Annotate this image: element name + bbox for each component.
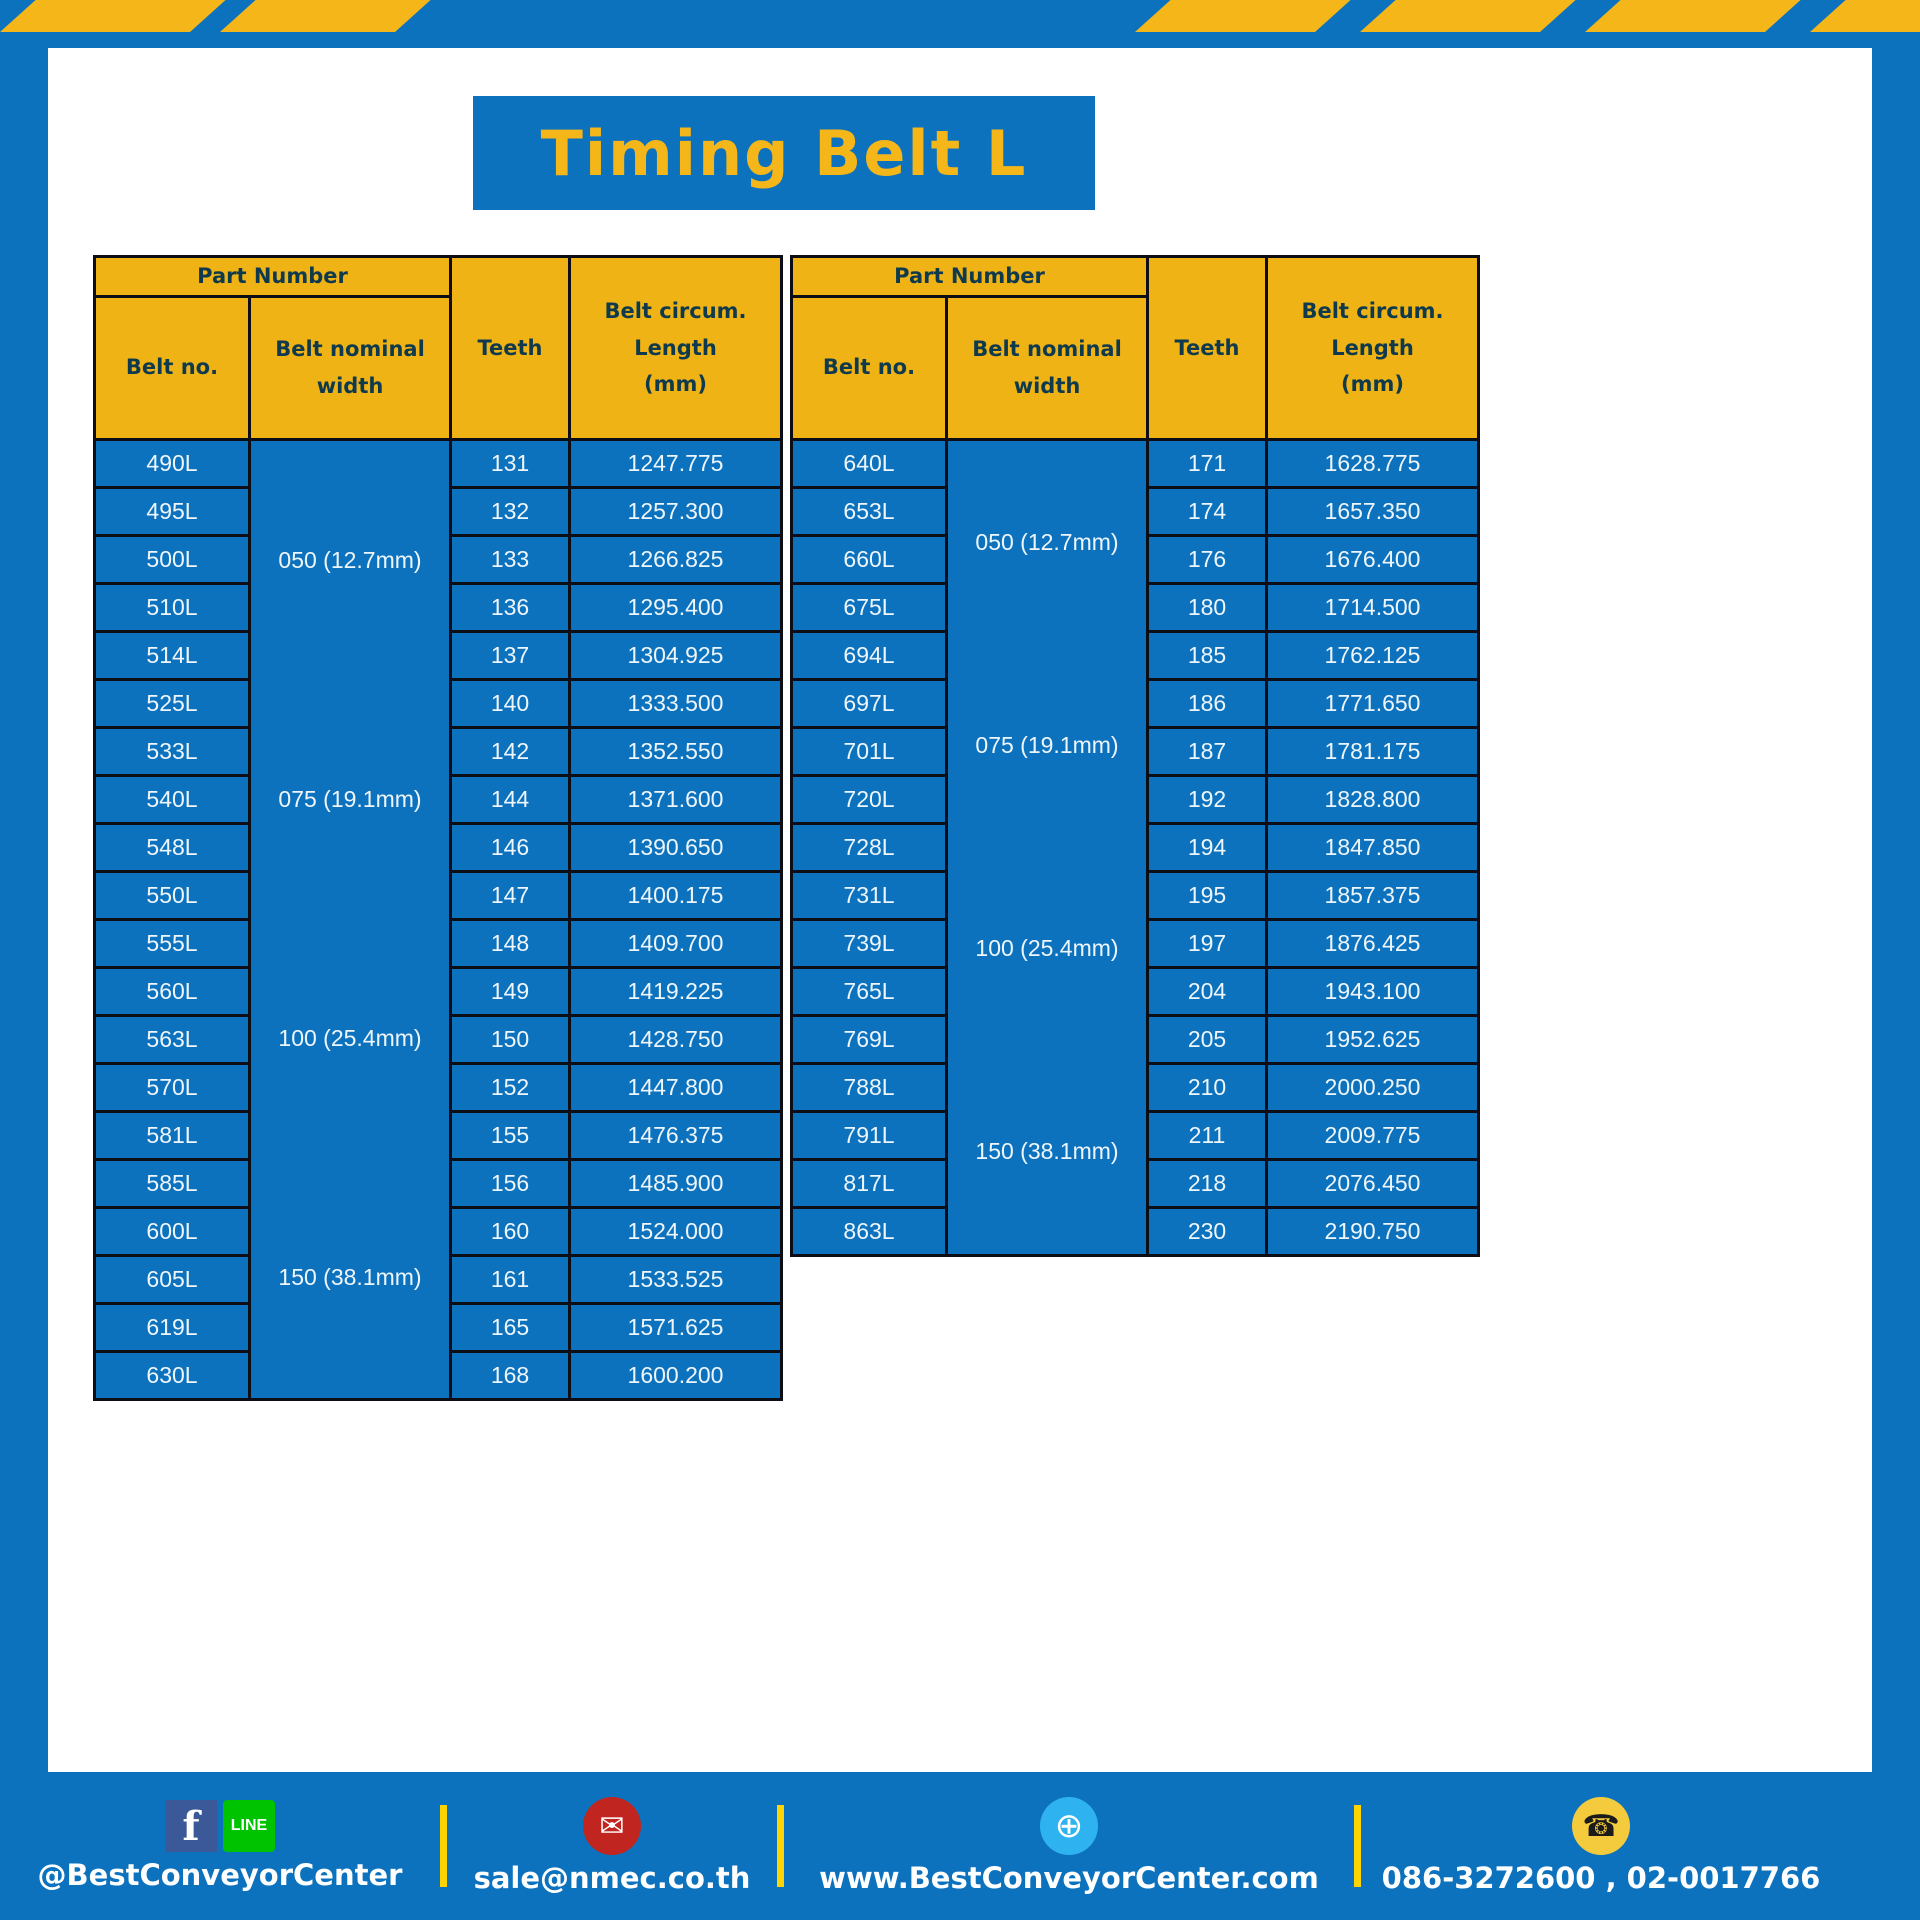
cell-belt-nominal-width: 050 (12.7mm)075 (19.1mm)100 (25.4mm)150 … [250, 439, 451, 1399]
cell-belt-no: 540L [95, 775, 250, 823]
cell-length-mm: 2076.450 [1267, 1159, 1479, 1207]
cell-teeth: 195 [1148, 871, 1267, 919]
cell-belt-no: 694L [792, 631, 947, 679]
cell-belt-no: 791L [792, 1111, 947, 1159]
cell-teeth: 204 [1148, 967, 1267, 1015]
header-length: Length [571, 330, 780, 367]
footer-divider-3 [1354, 1805, 1361, 1887]
cell-belt-no: 630L [95, 1351, 250, 1399]
cell-length-mm: 1657.350 [1267, 487, 1479, 535]
cell-teeth: 160 [451, 1207, 570, 1255]
cell-belt-no: 863L [792, 1207, 947, 1255]
cell-length-mm: 1476.375 [570, 1111, 782, 1159]
cell-length-mm: 1714.500 [1267, 583, 1479, 631]
page-title-banner: Timing Belt L [473, 96, 1095, 210]
cell-belt-no: 697L [792, 679, 947, 727]
cell-length-mm: 1371.600 [570, 775, 782, 823]
top-decoration-stripes [0, 0, 1920, 48]
cell-length-mm: 1628.775 [1267, 439, 1479, 487]
width-option-2: 100 (25.4mm) [251, 1026, 449, 1051]
cell-teeth: 148 [451, 919, 570, 967]
footer-facebook-block[interactable]: f LINE @BestConveyorCenter [0, 1800, 440, 1892]
cell-length-mm: 1600.200 [570, 1351, 782, 1399]
cell-length-mm: 1828.800 [1267, 775, 1479, 823]
header-belt-nominal-width: Belt nominal width [947, 296, 1148, 439]
cell-teeth: 230 [1148, 1207, 1267, 1255]
header-width: width [251, 368, 449, 405]
table-head: Part Number Teeth Belt circum. Length (m… [792, 257, 1479, 440]
cell-belt-no: 619L [95, 1303, 250, 1351]
cell-teeth: 140 [451, 679, 570, 727]
cell-length-mm: 1352.550 [570, 727, 782, 775]
cell-belt-no: 490L [95, 439, 250, 487]
cell-teeth: 186 [1148, 679, 1267, 727]
cell-length-mm: 1409.700 [570, 919, 782, 967]
header-width: width [948, 368, 1146, 405]
cell-belt-no: 585L [95, 1159, 250, 1207]
cell-belt-nominal-width: 050 (12.7mm)075 (19.1mm)100 (25.4mm)150 … [947, 439, 1148, 1255]
footer-phone-block[interactable]: ☎ 086-3272600 , 02-0017766 [1361, 1797, 1841, 1895]
cell-belt-no: 560L [95, 967, 250, 1015]
cell-teeth: 194 [1148, 823, 1267, 871]
contact-footer: f LINE @BestConveyorCenter ✉ sale@nmec.c… [0, 1772, 1920, 1920]
cell-belt-no: 563L [95, 1015, 250, 1063]
footer-divider-2 [777, 1805, 784, 1887]
cell-teeth: 152 [451, 1063, 570, 1111]
cell-belt-no: 640L [792, 439, 947, 487]
cell-teeth: 192 [1148, 775, 1267, 823]
header-belt-nominal: Belt nominal [948, 331, 1146, 368]
cell-length-mm: 2000.250 [1267, 1063, 1479, 1111]
header-row-top: Part Number Teeth Belt circum. Length (m… [792, 257, 1479, 297]
width-option-1: 075 (19.1mm) [948, 733, 1146, 758]
table-head: Part Number Teeth Belt circum. Length (m… [95, 257, 782, 440]
cell-belt-no: 514L [95, 631, 250, 679]
header-belt-circum: Belt circum. [571, 293, 780, 330]
footer-divider-1 [440, 1805, 447, 1887]
cell-teeth: 187 [1148, 727, 1267, 775]
cell-teeth: 146 [451, 823, 570, 871]
cell-length-mm: 1524.000 [570, 1207, 782, 1255]
belt-table: Part Number Teeth Belt circum. Length (m… [93, 255, 783, 1401]
footer-social-icons: f LINE [165, 1800, 275, 1852]
cell-belt-no: 765L [792, 967, 947, 1015]
header-part-number: Part Number [95, 257, 451, 297]
table-row: 640L050 (12.7mm)075 (19.1mm)100 (25.4mm)… [792, 439, 1479, 487]
cell-teeth: 137 [451, 631, 570, 679]
cell-teeth: 132 [451, 487, 570, 535]
cell-belt-no: 548L [95, 823, 250, 871]
stripe-6 [1810, 0, 1920, 32]
header-belt-nominal: Belt nominal [251, 331, 449, 368]
cell-teeth: 211 [1148, 1111, 1267, 1159]
header-belt-no: Belt no. [95, 296, 250, 439]
facebook-icon[interactable]: f [165, 1800, 217, 1852]
cell-teeth: 185 [1148, 631, 1267, 679]
cell-belt-no: 817L [792, 1159, 947, 1207]
cell-teeth: 180 [1148, 583, 1267, 631]
cell-length-mm: 1400.175 [570, 871, 782, 919]
cell-teeth: 205 [1148, 1015, 1267, 1063]
cell-teeth: 149 [451, 967, 570, 1015]
cell-length-mm: 1876.425 [1267, 919, 1479, 967]
cell-length-mm: 1857.375 [1267, 871, 1479, 919]
cell-teeth: 218 [1148, 1159, 1267, 1207]
cell-belt-no: 788L [792, 1063, 947, 1111]
cell-belt-no: 555L [95, 919, 250, 967]
phone-icon[interactable]: ☎ [1572, 1797, 1630, 1855]
belt-table: Part Number Teeth Belt circum. Length (m… [790, 255, 1480, 1257]
footer-phone-numbers: 086-3272600 , 02-0017766 [1382, 1861, 1821, 1895]
cell-belt-no: 550L [95, 871, 250, 919]
line-icon[interactable]: LINE [223, 1800, 275, 1852]
table-body: 640L050 (12.7mm)075 (19.1mm)100 (25.4mm)… [792, 439, 1479, 1255]
header-belt-circum-length: Belt circum. Length (mm) [1267, 257, 1479, 440]
cell-belt-no: 660L [792, 535, 947, 583]
width-option-1: 075 (19.1mm) [251, 787, 449, 812]
header-belt-circum-length: Belt circum. Length (mm) [570, 257, 782, 440]
header-part-number: Part Number [792, 257, 1148, 297]
stripe-5 [1585, 0, 1805, 32]
cell-teeth: 171 [1148, 439, 1267, 487]
globe-icon[interactable]: ⊕ [1040, 1797, 1098, 1855]
stripe-2 [220, 0, 435, 32]
cell-teeth: 168 [451, 1351, 570, 1399]
footer-email-address: sale@nmec.co.th [474, 1861, 751, 1895]
cell-length-mm: 1257.300 [570, 487, 782, 535]
cell-teeth: 210 [1148, 1063, 1267, 1111]
cell-length-mm: 1485.900 [570, 1159, 782, 1207]
footer-facebook-handle: @BestConveyorCenter [38, 1858, 403, 1892]
table-row: 490L050 (12.7mm)075 (19.1mm)100 (25.4mm)… [95, 439, 782, 487]
cell-length-mm: 1771.650 [1267, 679, 1479, 727]
page-title: Timing Belt L [541, 117, 1028, 190]
cell-teeth: 174 [1148, 487, 1267, 535]
width-option-0: 050 (12.7mm) [251, 548, 449, 573]
cell-length-mm: 1952.625 [1267, 1015, 1479, 1063]
cell-length-mm: 1533.525 [570, 1255, 782, 1303]
cell-length-mm: 1447.800 [570, 1063, 782, 1111]
width-option-3: 150 (38.1mm) [251, 1265, 449, 1290]
cell-belt-no: 720L [792, 775, 947, 823]
width-option-3: 150 (38.1mm) [948, 1139, 1146, 1164]
cell-length-mm: 1247.775 [570, 439, 782, 487]
header-length: Length [1268, 330, 1477, 367]
cell-teeth: 133 [451, 535, 570, 583]
cell-teeth: 197 [1148, 919, 1267, 967]
cell-belt-no: 675L [792, 583, 947, 631]
cell-belt-no: 525L [95, 679, 250, 727]
timing-belt-table-right: Part Number Teeth Belt circum. Length (m… [790, 255, 1480, 1257]
cell-teeth: 136 [451, 583, 570, 631]
cell-belt-no: 728L [792, 823, 947, 871]
stripe-4 [1360, 0, 1580, 32]
cell-length-mm: 1676.400 [1267, 535, 1479, 583]
cell-belt-no: 701L [792, 727, 947, 775]
cell-belt-no: 500L [95, 535, 250, 583]
cell-belt-no: 739L [792, 919, 947, 967]
header-mm-unit: (mm) [571, 366, 780, 403]
cell-belt-no: 581L [95, 1111, 250, 1159]
footer-email-block[interactable]: ✉ sale@nmec.co.th [447, 1797, 777, 1895]
cell-length-mm: 2190.750 [1267, 1207, 1479, 1255]
table-body: 490L050 (12.7mm)075 (19.1mm)100 (25.4mm)… [95, 439, 782, 1399]
header-teeth: Teeth [1148, 257, 1267, 440]
cell-belt-no: 653L [792, 487, 947, 535]
cell-belt-no: 510L [95, 583, 250, 631]
cell-belt-no: 769L [792, 1015, 947, 1063]
stripe-1 [0, 0, 230, 32]
cell-belt-no: 570L [95, 1063, 250, 1111]
header-teeth: Teeth [451, 257, 570, 440]
cell-length-mm: 1419.225 [570, 967, 782, 1015]
cell-teeth: 131 [451, 439, 570, 487]
header-belt-nominal-width: Belt nominal width [250, 296, 451, 439]
cell-teeth: 161 [451, 1255, 570, 1303]
cell-belt-no: 495L [95, 487, 250, 535]
cell-teeth: 142 [451, 727, 570, 775]
cell-length-mm: 1266.825 [570, 535, 782, 583]
cell-teeth: 165 [451, 1303, 570, 1351]
cell-length-mm: 1943.100 [1267, 967, 1479, 1015]
cell-length-mm: 1847.850 [1267, 823, 1479, 871]
cell-teeth: 147 [451, 871, 570, 919]
cell-teeth: 155 [451, 1111, 570, 1159]
footer-website-url: www.BestConveyorCenter.com [819, 1861, 1319, 1895]
cell-belt-no: 600L [95, 1207, 250, 1255]
cell-belt-no: 605L [95, 1255, 250, 1303]
cell-length-mm: 1333.500 [570, 679, 782, 727]
header-mm-unit: (mm) [1268, 366, 1477, 403]
footer-website-block[interactable]: ⊕ www.BestConveyorCenter.com [784, 1797, 1354, 1895]
cell-length-mm: 1304.925 [570, 631, 782, 679]
cell-teeth: 176 [1148, 535, 1267, 583]
cell-length-mm: 1390.650 [570, 823, 782, 871]
width-option-2: 100 (25.4mm) [948, 936, 1146, 961]
cell-length-mm: 1571.625 [570, 1303, 782, 1351]
cell-teeth: 150 [451, 1015, 570, 1063]
cell-teeth: 144 [451, 775, 570, 823]
cell-length-mm: 2009.775 [1267, 1111, 1479, 1159]
cell-length-mm: 1295.400 [570, 583, 782, 631]
stripe-3 [1135, 0, 1355, 32]
header-belt-no: Belt no. [792, 296, 947, 439]
cell-belt-no: 533L [95, 727, 250, 775]
width-option-0: 050 (12.7mm) [948, 530, 1146, 555]
header-row-top: Part Number Teeth Belt circum. Length (m… [95, 257, 782, 297]
cell-teeth: 156 [451, 1159, 570, 1207]
timing-belt-table-left: Part Number Teeth Belt circum. Length (m… [93, 255, 783, 1401]
email-icon[interactable]: ✉ [583, 1797, 641, 1855]
header-belt-circum: Belt circum. [1268, 293, 1477, 330]
cell-length-mm: 1428.750 [570, 1015, 782, 1063]
cell-length-mm: 1762.125 [1267, 631, 1479, 679]
cell-length-mm: 1781.175 [1267, 727, 1479, 775]
cell-belt-no: 731L [792, 871, 947, 919]
